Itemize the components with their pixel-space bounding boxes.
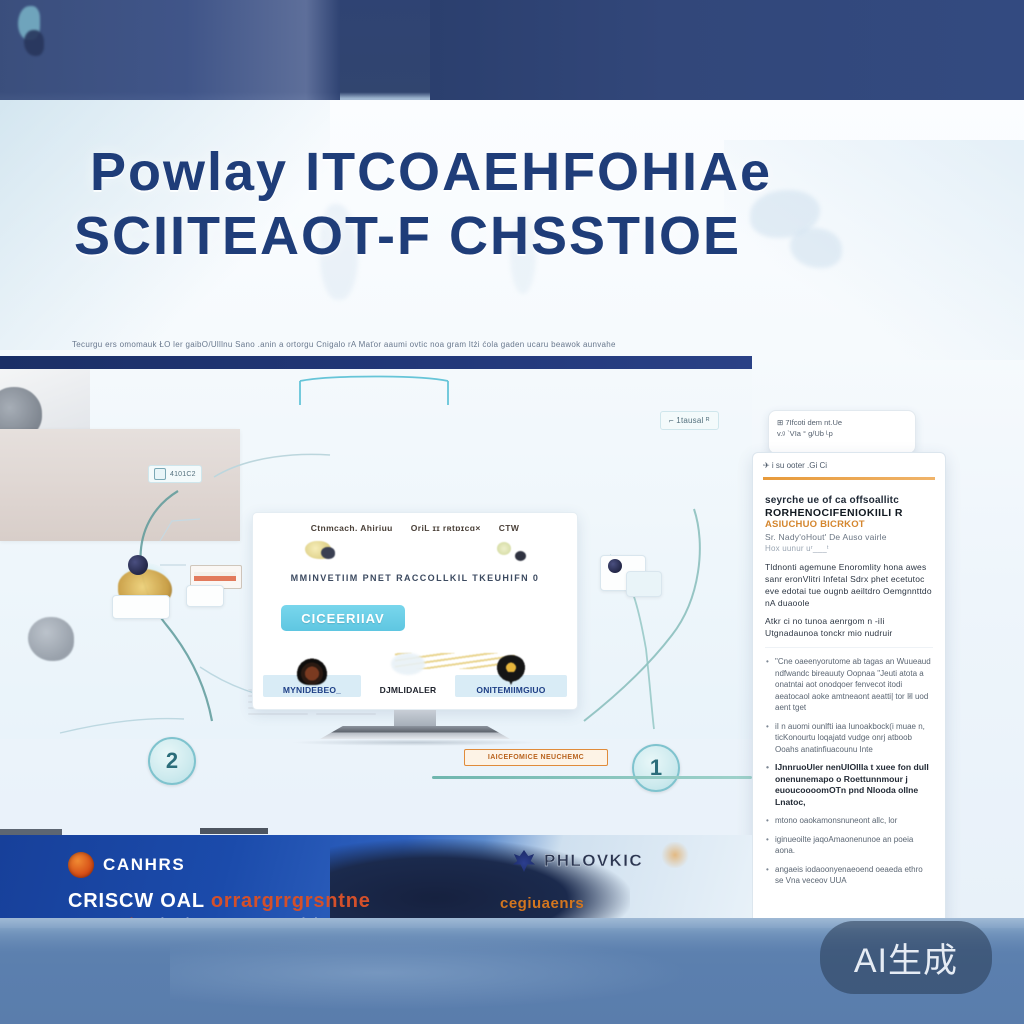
panel-tabbar[interactable]: ✈ i su ooter .Gi Ci [753,453,945,477]
monitor-base [320,726,510,739]
nav-item-2[interactable]: OriL ɪɪ rʀtɒɪcɑ× [411,523,481,533]
panel-subtext: Sr. Nady'oHout' De Auso vairle [765,531,933,543]
backdrop-bottom-blob [170,936,690,1010]
side-panel[interactable]: ✈ i su ooter .Gi Ci seyrche ue of ca off… [752,452,946,918]
panel-bullet-list: "Cne oaeenyorutome ab tagas an Wuueaud n… [765,656,933,887]
footer-right-line-2: iIiIi [500,916,523,918]
browser-nav[interactable]: Ctnmcach. Ahiriuu OriL ɪɪ rʀtɒɪcɑ× CTW [253,523,577,533]
browser-icon-row [253,539,577,565]
list-item: iginueoilte jaqoAmaonenunoe an poeia aon… [775,834,933,857]
backdrop-left-shade [0,0,340,102]
footer-logo: CANHRS [68,852,185,878]
footer-right-logo: PHLOVKIC [512,850,643,872]
footer-headline-orange: orrargrrgrsntne [211,890,371,912]
photo-blob-lower [28,617,74,661]
teal-divider [432,776,752,779]
cta-button[interactable]: CICEERIIAV [281,605,405,631]
footer-subline-mid: vcsinndaeo 'Mor str Pundul; [138,915,323,918]
tooltip-line-2: v.ᵍ `VIa ° g/Ub ᴸp [777,428,907,439]
panel-heading-2: RORHENOCIFENIOKIILI R [765,507,933,519]
ai-watermark: AI生成 [820,921,992,994]
list-item: mtono oaokamonsnuneont allc, lor [775,815,933,827]
cloud-icon [391,653,425,675]
page-subtitle: Tecurgu ers omomauk ŁO ler gaibO/Ulllnu … [72,339,752,351]
badge-icon [321,547,335,559]
node-tag-top-left[interactable]: 4101C2 [148,465,202,483]
chip-cloud[interactable]: DJMLIDALER [369,675,447,697]
chip-gauge-label: MYNIDEBEO_ [283,685,341,695]
panel-accent-rule [763,477,935,480]
node-card-router[interactable] [186,585,224,607]
chip-gauge[interactable]: MYNIDEBEO_ [263,675,361,697]
node-tag-right-label: ⌐ 1tausal ᴿ [669,416,710,425]
title-line-2: SCIITEAOT-F CHSSTIOE [74,204,920,268]
footer-subline-left: snoraaunl [68,915,134,918]
node-tag-right[interactable]: ⌐ 1tausal ᴿ [660,411,719,430]
footer-headline-white: CRISCW OAL [68,890,205,912]
chip-cloud-label: DJMLIDALER [380,685,437,695]
panel-body: seyrche ue of ca offsoallitc RORHENOCIFE… [753,485,945,904]
node-card-phone[interactable] [626,571,662,597]
footer-headline: CRISCW OAL orrargrrgrsntne [68,890,371,913]
footer-subline: snoraaunl vcsinndaeo 'Mor str Pundul; [68,915,323,918]
lens-dot-icon [128,555,148,575]
poster-sheet: Powlay ITCOAEHFOHIAe SCIITEAOT-F CHSSTIO… [0,100,1024,918]
gauge-icon [296,655,328,685]
chip-pin[interactable]: ONITEMIIMGIUO [455,675,567,697]
list-item: IJnnruoUler nenUIOIIIa t xuee fon duII o… [775,762,933,808]
panel-tabbar-label: ✈ i su ooter .Gi Ci [763,461,827,470]
list-item: "Cne oaeenyorutome ab tagas an Wuueaud n… [775,656,933,714]
backdrop-blob-top-dark [24,30,44,56]
step-badge-2[interactable]: 2 [148,737,196,785]
browser-heading: MMINVETIIM PNET RACCOLLKIL TKEUHIFN 0 [253,573,577,583]
tooltip-line-1: ⊞ 7Ifcoti dem nt.Ue [777,417,907,428]
node-tag-top-left-label: 4101C2 [170,471,196,478]
chip-pin-label: ONITEMIIMGIUO [476,685,545,695]
monitor-shadow [290,739,540,746]
navy-divider [0,356,752,369]
grid-icon [154,468,166,480]
footer-right-line-1: cegiuaenrs [500,895,584,912]
panel-faint-text: Hox uunur uʳ___ᵗ [765,543,933,555]
tooltip-card: ⊞ 7Ifcoti dem nt.Ue v.ᵍ `VIa ° g/Ub ᴸp [768,410,916,454]
chip-row: MYNIDEBEO_ DJMLIDALER ONITEMIIMGIUO [253,675,577,697]
browser-window[interactable]: Ctnmcach. Ahiriuu OriL ɪɪ rʀtɒɪcɑ× CTW M… [252,512,578,710]
step-badge-1[interactable]: 1 [632,744,680,792]
orange-tag[interactable]: IAICEFOMICE NEUCHEMC [464,749,608,766]
eye-icon [515,551,526,561]
leaf-icon [497,542,511,555]
panel-heading-1: seyrche ue of ca offsoallitc [765,495,933,507]
monitor: Ctnmcach. Ahiriuu OriL ɪɪ rʀtɒɪcɑ× CTW M… [252,512,578,710]
brand-seal-icon [68,852,94,878]
nav-item-3[interactable]: CTW [499,523,520,533]
step-badge-2-value: 2 [166,748,178,774]
list-item: iI n auomi ounlfti iaa Iunoakbock(i muae… [775,721,933,756]
leaf-logo-icon [512,850,536,872]
map-pin-icon [495,655,527,685]
nav-item-1[interactable]: Ctnmcach. Ahiriuu [311,523,393,533]
panel-accent-text: ASIUCHUO BICRKOT [765,519,933,531]
screenshot-canvas: Powlay ITCOAEHFOHIAe SCIITEAOT-F CHSSTIO… [0,0,1024,1024]
footer-right-logo-label: PHLOVKIC [544,851,643,871]
router-stripe-highlight [194,572,236,576]
footer-logo-label: CANHRS [103,855,185,875]
list-item: angaeis iodaoonyenaeoend oeaeda ethro se… [775,864,933,887]
panel-paragraph-2: Atkr ci no tunoa aenrgom n -iIi Utgnadau… [765,615,933,639]
page-title: Powlay ITCOAEHFOHIAe SCIITEAOT-F CHSSTIO… [90,140,920,268]
title-line-1: Powlay ITCOAEHFOHIAe [90,140,920,204]
panel-separator [765,647,933,648]
backdrop-right-shade [430,0,1024,102]
avatar [608,559,622,573]
panel-paragraph-1: Tldnonti agemune Enoromlity hona awes sa… [765,561,933,609]
grey-bar-mid [200,828,268,834]
footer-spark [660,842,690,868]
node-card-camera[interactable] [112,595,170,619]
